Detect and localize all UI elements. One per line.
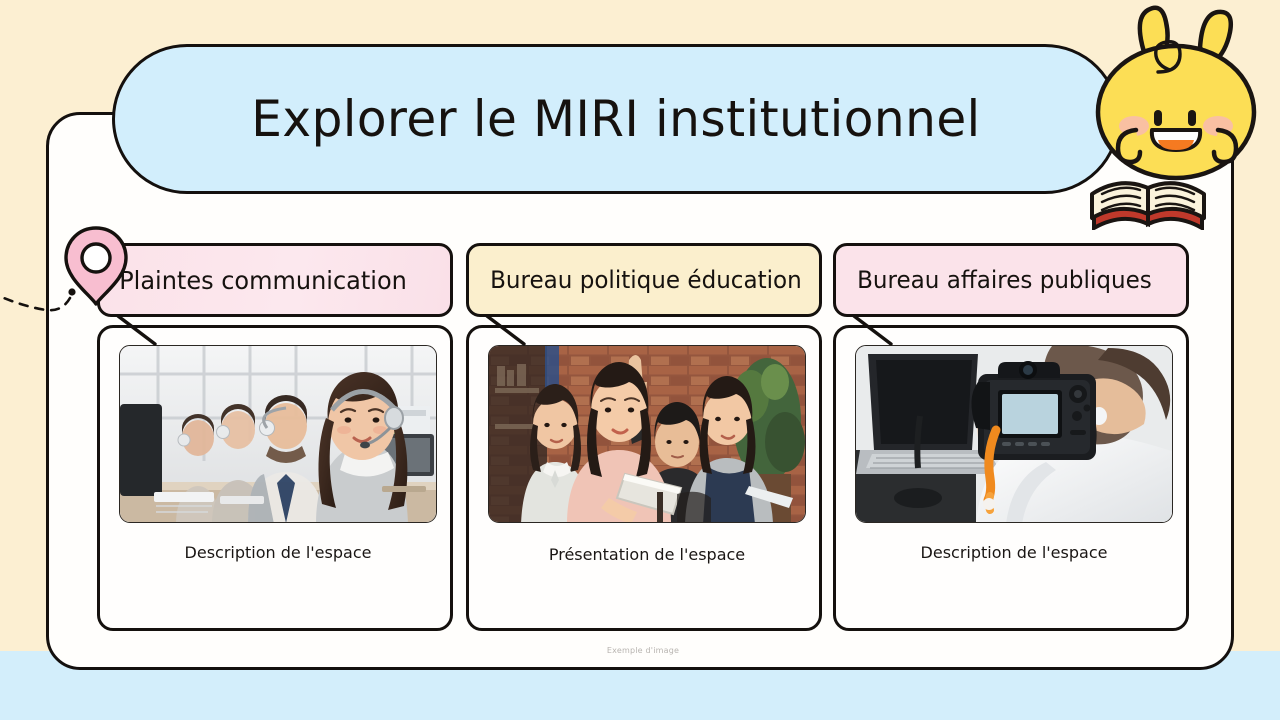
bunny-reading-book-mascot-icon — [1078, 4, 1278, 230]
column-header-label: Bureau affaires publiques — [836, 266, 1152, 294]
students-raising-hands-in-seminar-illustration — [489, 346, 806, 523]
image-footnote: Exemple d'image — [49, 646, 1237, 655]
column-header-chip[interactable]: Plaintes communication — [97, 243, 453, 317]
column-card[interactable]: Description de l'espace — [97, 325, 453, 631]
column-caption: Description de l'espace — [836, 543, 1189, 562]
call-center-agents-with-headsets-illustration — [120, 346, 437, 523]
press-photographer-with-dslr-camera-illustration — [856, 346, 1173, 523]
column-image — [488, 345, 806, 523]
connector-tick-icon — [851, 313, 897, 347]
columns-container: Plaintes communication — [49, 115, 1237, 673]
location-pin-marker[interactable] — [0, 214, 140, 324]
content-panel: Plaintes communication — [46, 112, 1234, 670]
column-header-label: Bureau politique éducation — [469, 266, 802, 294]
column-header-chip[interactable]: Bureau politique éducation — [466, 243, 822, 317]
page-title: Explorer le MIRI institutionnel — [251, 90, 980, 148]
column-header-label: Plaintes communication — [100, 266, 407, 295]
connector-tick-icon — [484, 313, 530, 347]
slide-canvas: Plaintes communication — [0, 0, 1280, 720]
column-caption: Description de l'espace — [100, 543, 453, 562]
column-card[interactable]: Description de l'espace — [833, 325, 1189, 631]
column-caption: Présentation de l'espace — [469, 545, 822, 564]
slide-title-banner: Explorer le MIRI institutionnel — [112, 44, 1120, 194]
column-image — [855, 345, 1173, 523]
column-image — [119, 345, 437, 523]
column-header-chip[interactable]: Bureau affaires publiques — [833, 243, 1189, 317]
column-card[interactable]: Présentation de l'espace — [466, 325, 822, 631]
